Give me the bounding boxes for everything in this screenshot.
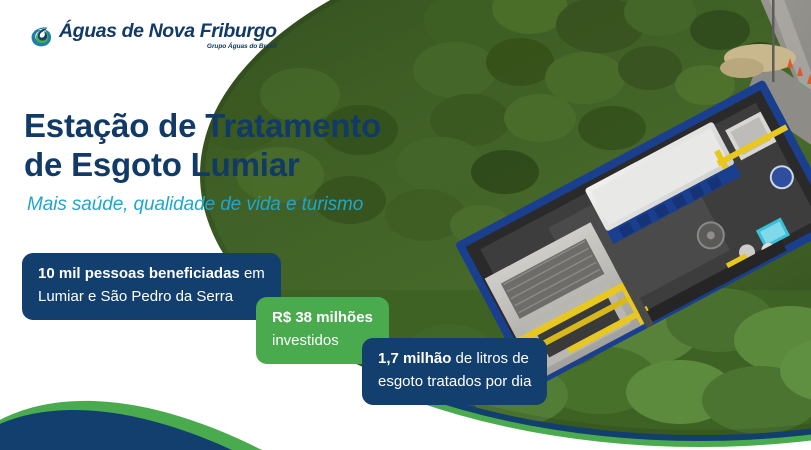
subtitle: Mais saúde, qualidade de vida e turismo xyxy=(27,194,363,216)
brand-tagline: Grupo Águas do Brasil xyxy=(207,44,277,51)
brand-text: Águas de Nova Friburgo Grupo Águas do Br… xyxy=(59,22,277,50)
headline-line-2: de Esgoto Lumiar xyxy=(24,146,381,185)
bottom-left-arcs xyxy=(0,380,270,450)
headline-line-1: Estação de Tratamento xyxy=(24,107,381,146)
fact-card-volume: 1,7 milhão de litros de esgoto tratados … xyxy=(362,338,547,405)
fact-investment-line-2: investidos xyxy=(272,330,373,353)
fact-card-people: 10 mil pessoas beneficiadas em Lumiar e … xyxy=(22,253,281,320)
fact-volume-line-2: esgoto tratados por dia xyxy=(378,371,531,394)
brand-logo[interactable]: Águas de Nova Friburgo Grupo Águas do Br… xyxy=(27,22,277,50)
page-title: Estação de Tratamento de Esgoto Lumiar xyxy=(24,107,381,184)
fact-people-inline: em xyxy=(240,265,265,282)
brand-name: Águas de Nova Friburgo xyxy=(59,22,277,42)
fact-volume-strong: 1,7 milhão xyxy=(378,350,451,367)
fact-volume-inline: de litros de xyxy=(451,350,529,367)
water-droplet-swirl-icon xyxy=(27,23,53,49)
fact-volume-line-1: 1,7 milhão de litros de xyxy=(378,348,531,371)
fact-people-strong: 10 mil pessoas beneficiadas xyxy=(38,265,240,282)
fact-people-line-2: Lumiar e São Pedro da Serra xyxy=(38,286,265,309)
campaign-banner: Águas de Nova Friburgo Grupo Águas do Br… xyxy=(0,0,811,450)
fact-people-line-1: 10 mil pessoas beneficiadas em xyxy=(38,263,265,286)
fact-investment-strong: R$ 38 milhões xyxy=(272,307,373,330)
